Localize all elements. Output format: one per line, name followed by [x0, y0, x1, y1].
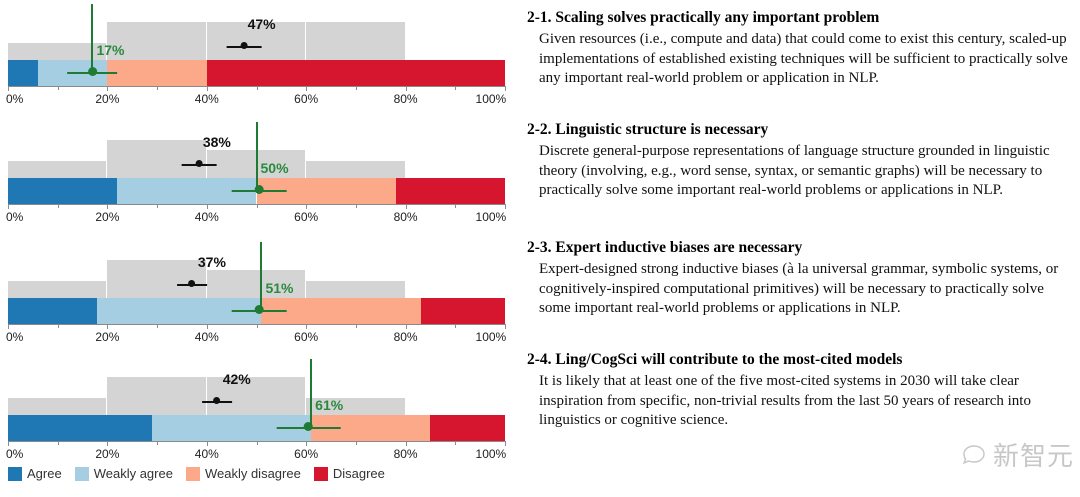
axis-tick	[306, 86, 307, 91]
statement-2-1-title: 2-1. Scaling solves practically any impo…	[527, 8, 1080, 28]
axis-tick	[8, 324, 9, 329]
legend-swatch-disagree	[314, 467, 328, 481]
statement-2-2: 2-2. Linguistic structure is necessary D…	[527, 120, 1080, 201]
statement-2-4: 2-4. Ling/CogSci will contribute to the …	[527, 350, 1072, 431]
axis-tick-label: 0%	[6, 210, 23, 224]
statement-2-2-title: 2-2. Linguistic structure is necessary	[527, 120, 1080, 140]
bar-segment-agree	[8, 178, 117, 204]
bar-segment-weak-disagree	[107, 60, 206, 86]
axis-tick	[107, 324, 108, 329]
axis-minor-tick	[257, 441, 258, 445]
axis-tick	[107, 204, 108, 209]
legend-item-disagree: Disagree	[314, 466, 385, 481]
x-axis-2-1: 0%20%40%60%80%100%	[8, 86, 505, 110]
median-dot	[254, 305, 263, 314]
axis-tick	[505, 204, 506, 209]
chart-2-3: 37%51%0%20%40%60%80%100%	[0, 240, 520, 350]
axis-tick	[107, 441, 108, 446]
median-label-2-4: 61%	[315, 397, 343, 413]
median-marker-2-4	[276, 421, 341, 435]
median-marker-2-1	[68, 66, 118, 80]
axis-tick-label: 80%	[394, 447, 418, 461]
statement-2-3-title: 2-3. Expert inductive biases are necessa…	[527, 238, 1072, 258]
plot-area-2-3: 37%51%0%20%40%60%80%100%	[8, 240, 505, 334]
histogram-bin	[8, 398, 107, 415]
axis-tick	[107, 86, 108, 91]
x-axis-2-2: 0%20%40%60%80%100%	[8, 204, 505, 228]
median-dot	[88, 67, 97, 76]
legend-item-agree: Agree	[8, 466, 62, 481]
axis-tick-label: 20%	[95, 330, 119, 344]
bar-segment-disagree	[430, 415, 505, 441]
axis-minor-tick	[257, 86, 258, 90]
statement-2-1-body: Given resources (i.e., compute and data)…	[539, 30, 1080, 89]
bar-segment-disagree	[396, 178, 505, 204]
histogram-bin	[306, 22, 405, 60]
histogram-bin	[8, 281, 107, 298]
mean-label-2-1: 47%	[248, 16, 276, 32]
histogram-bin	[306, 161, 405, 178]
axis-tick-label: 60%	[294, 447, 318, 461]
figure-root: 47%17%0%20%40%60%80%100%38%50%0%20%40%60…	[0, 0, 1080, 497]
median-label-2-3: 51%	[265, 280, 293, 296]
axis-tick	[505, 324, 506, 329]
histogram-2-4	[8, 357, 505, 415]
watermark: 新智元	[961, 436, 1074, 473]
histogram-bin	[306, 281, 405, 298]
median-dot	[254, 185, 263, 194]
axis-minor-tick	[58, 441, 59, 445]
axis-tick	[8, 441, 9, 446]
axis-tick	[207, 204, 208, 209]
statement-2-2-body: Discrete general-purpose representations…	[539, 142, 1080, 201]
axis-minor-tick	[356, 324, 357, 328]
axis-minor-tick	[157, 324, 158, 328]
axis-tick	[8, 204, 9, 209]
axis-tick	[306, 441, 307, 446]
legend-swatch-weakly-agree	[75, 467, 89, 481]
axis-tick	[207, 324, 208, 329]
stacked-bar-2-4	[8, 415, 505, 441]
median-label-2-1: 17%	[96, 42, 124, 58]
axis-tick	[207, 86, 208, 91]
plot-area-2-4: 42%61%0%20%40%60%80%100%	[8, 357, 505, 451]
axis-tick	[406, 204, 407, 209]
median-dot	[304, 422, 313, 431]
axis-tick	[505, 441, 506, 446]
axis-tick-label: 60%	[294, 210, 318, 224]
median-marker-2-3	[232, 304, 287, 318]
axis-tick	[406, 324, 407, 329]
axis-minor-tick	[157, 86, 158, 90]
chart-legend: Agree Weakly agree Weakly disagree Disag…	[8, 466, 391, 481]
mean-label-2-3: 37%	[198, 254, 226, 270]
histogram-2-3	[8, 240, 505, 298]
axis-tick-label: 0%	[6, 92, 23, 106]
bar-segment-agree	[8, 415, 152, 441]
axis-tick	[406, 86, 407, 91]
charts-pane: 47%17%0%20%40%60%80%100%38%50%0%20%40%60…	[0, 0, 520, 497]
chart-2-1: 47%17%0%20%40%60%80%100%	[0, 2, 520, 112]
chart-2-4: 42%61%0%20%40%60%80%100%	[0, 357, 520, 467]
statement-2-3-body: Expert-designed strong inductive biases …	[539, 260, 1072, 319]
median-label-2-2: 50%	[261, 160, 289, 176]
histogram-bin	[107, 377, 206, 415]
axis-tick	[8, 86, 9, 91]
watermark-text: 新智元	[993, 436, 1074, 473]
axis-tick	[306, 324, 307, 329]
chart-2-2: 38%50%0%20%40%60%80%100%	[0, 120, 520, 230]
axis-tick-label: 20%	[95, 92, 119, 106]
legend-label-weakly-agree: Weakly agree	[94, 466, 173, 481]
median-rule-2-1	[91, 4, 93, 72]
axis-tick-label: 40%	[195, 92, 219, 106]
axis-tick	[406, 441, 407, 446]
mean-marker-2-1	[227, 40, 262, 54]
bar-segment-disagree	[207, 60, 505, 86]
axis-minor-tick	[356, 86, 357, 90]
statement-2-4-body: It is likely that at least one of the fi…	[539, 372, 1072, 431]
axis-tick-label: 80%	[394, 330, 418, 344]
axis-tick-label: 60%	[294, 92, 318, 106]
mean-marker-2-4	[202, 395, 232, 409]
axis-tick-label: 100%	[476, 92, 507, 106]
plot-area-2-2: 38%50%0%20%40%60%80%100%	[8, 120, 505, 214]
legend-swatch-weakly-disagree	[186, 467, 200, 481]
legend-item-weakly-agree: Weakly agree	[75, 466, 173, 481]
axis-minor-tick	[455, 86, 456, 90]
axis-tick-label: 80%	[394, 210, 418, 224]
mean-dot	[196, 160, 203, 167]
legend-item-weakly-disagree: Weakly disagree	[186, 466, 301, 481]
axis-tick-label: 40%	[195, 210, 219, 224]
axis-minor-tick	[257, 204, 258, 208]
axis-tick-label: 100%	[476, 447, 507, 461]
mean-label-2-4: 42%	[223, 371, 251, 387]
axis-minor-tick	[257, 324, 258, 328]
axis-tick-label: 60%	[294, 330, 318, 344]
median-rule-2-2	[256, 122, 258, 190]
histogram-bin	[8, 161, 107, 178]
mean-marker-2-2	[182, 158, 217, 172]
axis-minor-tick	[356, 441, 357, 445]
axis-tick	[505, 86, 506, 91]
plot-area-2-1: 47%17%0%20%40%60%80%100%	[8, 2, 505, 96]
axis-minor-tick	[157, 204, 158, 208]
axis-minor-tick	[58, 324, 59, 328]
median-marker-2-2	[232, 184, 287, 198]
legend-swatch-agree	[8, 467, 22, 481]
axis-tick-label: 80%	[394, 92, 418, 106]
axis-tick-label: 0%	[6, 447, 23, 461]
legend-label-weakly-disagree: Weakly disagree	[205, 466, 301, 481]
x-axis-2-4: 0%20%40%60%80%100%	[8, 441, 505, 465]
mean-dot	[241, 42, 248, 49]
mean-marker-2-3	[177, 278, 207, 292]
axis-tick-label: 20%	[95, 447, 119, 461]
axis-tick	[306, 204, 307, 209]
legend-label-agree: Agree	[27, 466, 62, 481]
statement-2-1: 2-1. Scaling solves practically any impo…	[527, 8, 1080, 89]
x-axis-2-3: 0%20%40%60%80%100%	[8, 324, 505, 348]
axis-minor-tick	[157, 441, 158, 445]
speech-bubble-icon	[961, 444, 987, 466]
legend-label-disagree: Disagree	[333, 466, 385, 481]
axis-tick-label: 40%	[195, 447, 219, 461]
mean-label-2-2: 38%	[203, 134, 231, 150]
axis-minor-tick	[455, 324, 456, 328]
axis-tick-label: 40%	[195, 330, 219, 344]
axis-tick-label: 100%	[476, 210, 507, 224]
axis-minor-tick	[455, 441, 456, 445]
axis-tick	[207, 441, 208, 446]
axis-tick-label: 0%	[6, 330, 23, 344]
bar-segment-agree	[8, 298, 97, 324]
axis-tick-label: 100%	[476, 330, 507, 344]
axis-minor-tick	[455, 204, 456, 208]
statement-2-4-title: 2-4. Ling/CogSci will contribute to the …	[527, 350, 1072, 370]
axis-minor-tick	[356, 204, 357, 208]
statements-pane: 2-1. Scaling solves practically any impo…	[527, 0, 1080, 497]
bar-segment-disagree	[421, 298, 505, 324]
axis-minor-tick	[58, 204, 59, 208]
axis-minor-tick	[58, 86, 59, 90]
median-rule-2-3	[260, 242, 262, 310]
median-rule-2-4	[310, 359, 312, 427]
bar-segment-agree	[8, 60, 38, 86]
statement-2-3: 2-3. Expert inductive biases are necessa…	[527, 238, 1072, 319]
axis-tick-label: 20%	[95, 210, 119, 224]
